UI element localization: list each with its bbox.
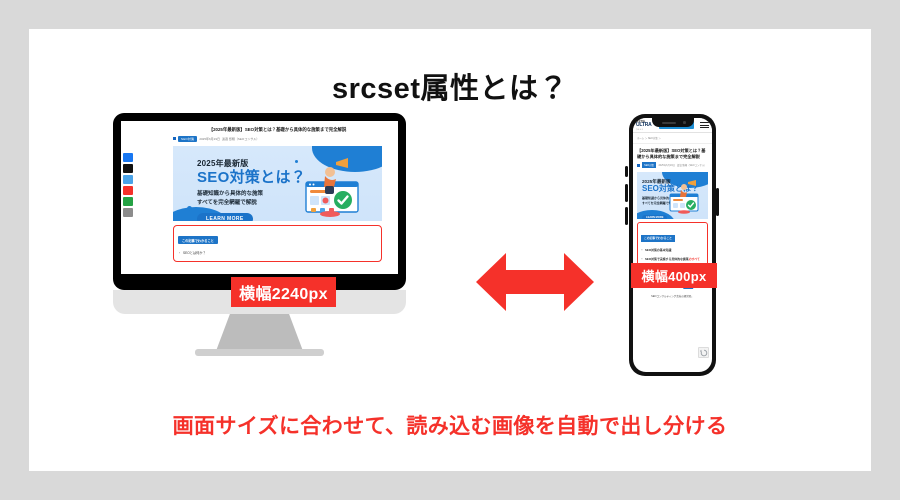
banner-headline: SEO対策とは？ [197, 170, 306, 187]
toc-item-text: SEO対策の基本知識 [645, 248, 671, 252]
publish-date: 2025年6月19日 [199, 137, 220, 141]
desktop-screen: 【2025年最新版】SEO対策とは？基礎から具体的な施策まで完全解説 SEO対策… [121, 121, 398, 274]
banner-illustration [664, 180, 704, 214]
line-share-icon[interactable] [123, 175, 133, 184]
article-meta: SEO対策 2025年6月19日 渡邉 悠翔（SEOコンサル） [637, 162, 708, 168]
meta-marker-icon [637, 164, 640, 167]
desktop-article: 【2025年最新版】SEO対策とは？基礎から具体的な施策まで完全解説 SEO対策… [173, 127, 382, 262]
category-tag[interactable]: SEO対策 [178, 136, 197, 142]
banner-subline-2: すべてを完全網羅で解説 [197, 199, 306, 208]
banner-cta-button[interactable]: LEARN MORE [197, 213, 253, 220]
toc-item[interactable]: SEOとは何か？ [178, 250, 377, 255]
meta-marker-icon [173, 137, 176, 140]
phone-mute-switch[interactable] [625, 166, 628, 177]
article-meta: SEO対策 2025年6月19日 渡邉 悠翔（SEOコンサル） [173, 136, 382, 142]
toc-item-text: SEO対策で実施する具体的な施策 [645, 257, 689, 261]
hatena-share-icon[interactable] [123, 186, 133, 195]
banner-dot [187, 206, 192, 211]
recaptcha-badge-icon[interactable] [698, 347, 709, 358]
mobile-device-mockup: 株式会社 ULTRA ウルトラ 無料相談・お問い合わせ ホーム ＞ SEO対策 … [600, 114, 745, 382]
toc-heading: この記事でわかること [178, 236, 218, 244]
article-author: 渡邉 悠翔（SEOコンサル） [222, 137, 259, 141]
pocket-share-icon[interactable] [123, 197, 133, 206]
banner-text-block: 2025年最新版 SEO対策とは？ 基礎知識から具体的な施策 すべてを完全網羅で… [197, 158, 306, 221]
hamburger-menu-icon[interactable] [700, 122, 709, 128]
banner-illustration [292, 156, 372, 218]
publish-date: 2025年6月19日 [658, 163, 674, 167]
social-share-sidebar[interactable] [123, 153, 133, 217]
facebook-share-icon[interactable] [123, 153, 133, 162]
phone-bezel: 株式会社 ULTRA ウルトラ 無料相談・お問い合わせ ホーム ＞ SEO対策 … [629, 114, 716, 376]
mobile-width-label: 横幅400px [631, 263, 717, 288]
hero-banner: 2025年最新版 SEO対策とは？ 基礎知識から具体的な施策 すべてを完全網羅で… [173, 146, 382, 221]
page-title: srcset属性とは？ [29, 65, 871, 107]
summary-caption: 画面サイズに合わせて、読み込む画像を自動で出し分ける [29, 410, 871, 440]
content-card: srcset属性とは？ 【2025年最新版】SEO対策とは？基礎から具体的な施策… [29, 29, 871, 471]
footer-note: SEOコンサルティング会社の経営者。 [637, 294, 708, 298]
x-share-icon[interactable] [123, 164, 133, 173]
double-headed-horizontal-arrow-icon [476, 251, 594, 313]
article-author: 渡邉 悠翔（SEOコンサル） [677, 163, 707, 167]
monitor-stand-neck [216, 314, 303, 351]
article-title: 【2025年最新版】SEO対策とは？基礎から具体的な施策まで完全解説 [637, 148, 708, 159]
phone-volume-down-button[interactable] [625, 207, 628, 225]
phone-notch [652, 118, 694, 127]
toc-item[interactable]: SEO対策の基本知識 [641, 248, 704, 252]
category-tag[interactable]: SEO対策 [642, 162, 657, 168]
banner-subline-1: 基礎知識から具体的な施策 [197, 190, 306, 199]
mobile-screen: 株式会社 ULTRA ウルトラ 無料相談・お問い合わせ ホーム ＞ SEO対策 … [633, 118, 712, 372]
monitor-stand-base [195, 349, 324, 356]
monitor-bezel: 【2025年最新版】SEO対策とは？基礎から具体的な施策まで完全解説 SEO対策… [113, 113, 406, 290]
table-of-contents: この記事でわかること SEOとは何か？ [173, 225, 382, 262]
article-title: 【2025年最新版】SEO対策とは？基礎から具体的な施策まで完全解説 [173, 127, 382, 133]
breadcrumb[interactable]: ホーム ＞ SEO対策 ＞ [633, 133, 712, 144]
banner-eyebrow: 2025年最新版 [197, 158, 306, 169]
copy-link-icon[interactable] [123, 208, 133, 217]
hero-banner: 2025年最新版 SEO対策とは？ 基礎知識から具体的な施策 すべてを完全網羅で… [637, 172, 708, 219]
toc-item-highlight: のすべて [689, 257, 700, 261]
phone-power-button[interactable] [716, 188, 719, 216]
desktop-device-mockup: 【2025年最新版】SEO対策とは？基礎から具体的な施策まで完全解説 SEO対策… [84, 113, 434, 368]
earpiece-speaker-icon [662, 122, 676, 124]
banner-cta-button[interactable]: LEARN MORE [642, 215, 667, 220]
logo-sub-text: ウルトラ [636, 128, 656, 131]
desktop-width-label: 横幅2240px [231, 277, 336, 307]
front-camera-icon [683, 121, 686, 124]
toc-item[interactable]: SEO対策で実施する具体的な施策のすべて [641, 257, 704, 261]
toc-heading: この記事でわかること [641, 235, 675, 242]
phone-volume-up-button[interactable] [625, 184, 628, 202]
